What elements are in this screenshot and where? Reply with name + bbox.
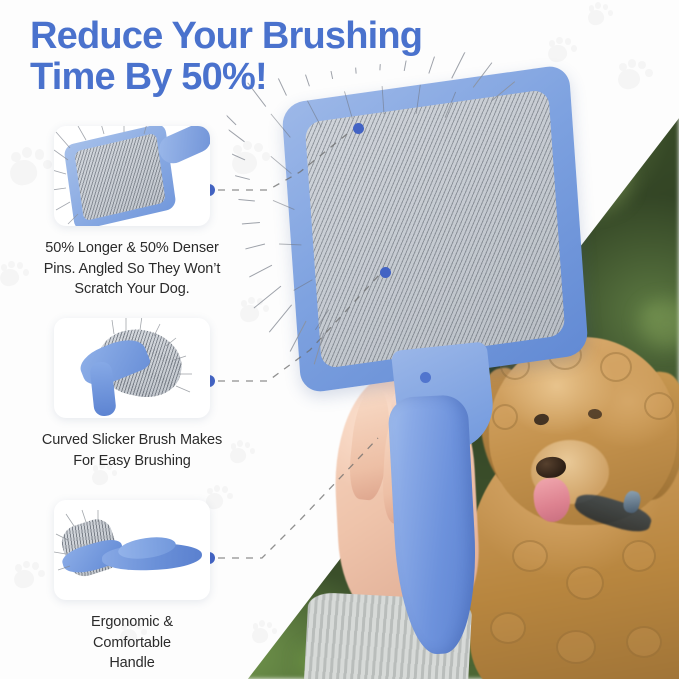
callout-target-dot-curve	[380, 267, 391, 278]
caption-line: Curved Slicker Brush Makes	[16, 430, 248, 451]
headline: Reduce Your Brushing Time By 50%!	[30, 16, 550, 98]
callout-caption-pins: 50% Longer & 50% Denser Pins. Angled So …	[16, 238, 248, 300]
headline-line-1: Reduce Your Brushing	[30, 16, 550, 57]
thumb-pin-strokes	[54, 318, 210, 418]
caption-line: Pins. Angled So They Won’t	[16, 259, 248, 280]
main-product-brush	[268, 78, 648, 638]
caption-line: Comfortable	[16, 633, 248, 654]
headline-line-2: Time By 50%!	[30, 57, 550, 98]
caption-line: Handle	[16, 653, 248, 674]
dog-fur-curl	[644, 392, 674, 420]
callout-caption-curve: Curved Slicker Brush Makes For Easy Brus…	[16, 430, 248, 471]
callout-thumbnail-pins	[54, 126, 210, 226]
brush-handle	[387, 394, 480, 656]
paw-icon	[588, 2, 614, 26]
callout-curved-brush: Curved Slicker Brush Makes For Easy Brus…	[16, 318, 248, 471]
caption-line: Ergonomic &	[16, 612, 248, 633]
callout-ergonomic-handle: Ergonomic & Comfortable Handle	[16, 500, 248, 674]
callout-caption-handle: Ergonomic & Comfortable Handle	[16, 612, 248, 674]
callout-longer-denser-pins: 50% Longer & 50% Denser Pins. Angled So …	[16, 126, 248, 300]
paw-icon	[548, 36, 578, 63]
infographic-canvas: Reduce Your Brushing Time By 50%! 50% Lo…	[0, 0, 679, 679]
brush-pin-pad	[305, 89, 566, 369]
thumb-pin-strokes	[54, 500, 210, 600]
caption-line: 50% Longer & 50% Denser	[16, 238, 248, 259]
caption-line: Scratch Your Dog.	[16, 279, 248, 300]
callout-thumbnail-curve	[54, 318, 210, 418]
callout-target-dot-pins	[353, 123, 364, 134]
callout-thumbnail-handle	[54, 500, 210, 600]
caption-line: For Easy Brushing	[16, 451, 248, 472]
thumb-pin-strokes	[54, 126, 210, 226]
handle-accent-dot	[420, 372, 431, 383]
